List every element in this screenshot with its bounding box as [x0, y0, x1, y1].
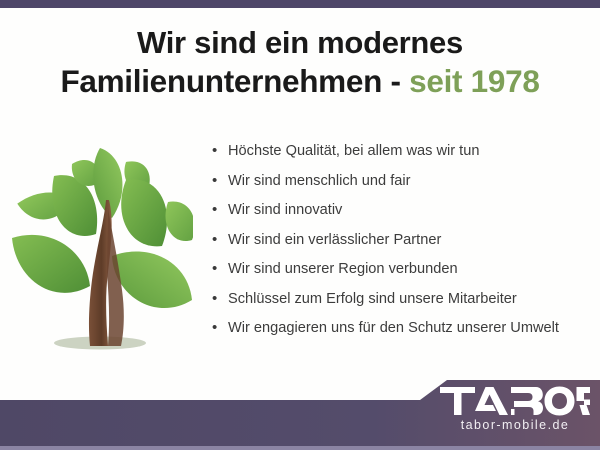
list-item-label: Wir engagieren uns für den Schutz unsere… [228, 317, 559, 339]
title-line-2-main: Familienunternehmen - [60, 63, 409, 99]
list-item: • Wir sind innovativ [212, 199, 592, 229]
list-item-label: Wir sind ein verlässlicher Partner [228, 229, 441, 251]
list-item: • Höchste Qualität, bei allem was wir tu… [212, 140, 592, 170]
bullet-dot-icon: • [212, 199, 222, 221]
bullet-dot-icon: • [212, 258, 222, 280]
tree-svg [8, 140, 193, 370]
slide-canvas: Wir sind ein modernes Familienunternehme… [0, 0, 600, 450]
top-accent-bar [0, 0, 600, 8]
bullet-dot-icon: • [212, 229, 222, 251]
title-line-2: Familienunternehmen - seit 1978 [0, 62, 600, 100]
title-accent-year: seit 1978 [409, 63, 539, 99]
bottom-accent-strip [0, 446, 600, 450]
page-title: Wir sind ein modernes Familienunternehme… [0, 24, 600, 100]
bullet-dot-icon: • [212, 288, 222, 310]
list-item: • Wir sind menschlich und fair [212, 170, 592, 200]
list-item-label: Wir sind unserer Region verbunden [228, 258, 458, 280]
list-item: • Schlüssel zum Erfolg sind unsere Mitar… [212, 288, 592, 318]
list-item-label: Höchste Qualität, bei allem was wir tun [228, 140, 479, 162]
tabor-logo[interactable]: tabor-mobile.de [440, 386, 590, 433]
tabor-logo-tagline: tabor-mobile.de [440, 417, 590, 433]
bullet-dot-icon: • [212, 170, 222, 192]
footer-bar: tabor-mobile.de [0, 380, 600, 450]
list-item: • Wir sind ein verlässlicher Partner [212, 229, 592, 259]
list-item: • Wir sind unserer Region verbunden [212, 258, 592, 288]
bullet-list: • Höchste Qualität, bei allem was wir tu… [212, 140, 592, 347]
list-item-label: Wir sind menschlich und fair [228, 170, 411, 192]
tabor-wordmark-icon [440, 386, 590, 416]
list-item: • Wir engagieren uns für den Schutz unse… [212, 317, 592, 347]
title-line-1: Wir sind ein modernes [0, 24, 600, 62]
list-item-label: Schlüssel zum Erfolg sind unsere Mitarbe… [228, 288, 517, 310]
bullet-dot-icon: • [212, 140, 222, 162]
bullet-dot-icon: • [212, 317, 222, 339]
tree-illustration [8, 140, 193, 370]
list-item-label: Wir sind innovativ [228, 199, 342, 221]
